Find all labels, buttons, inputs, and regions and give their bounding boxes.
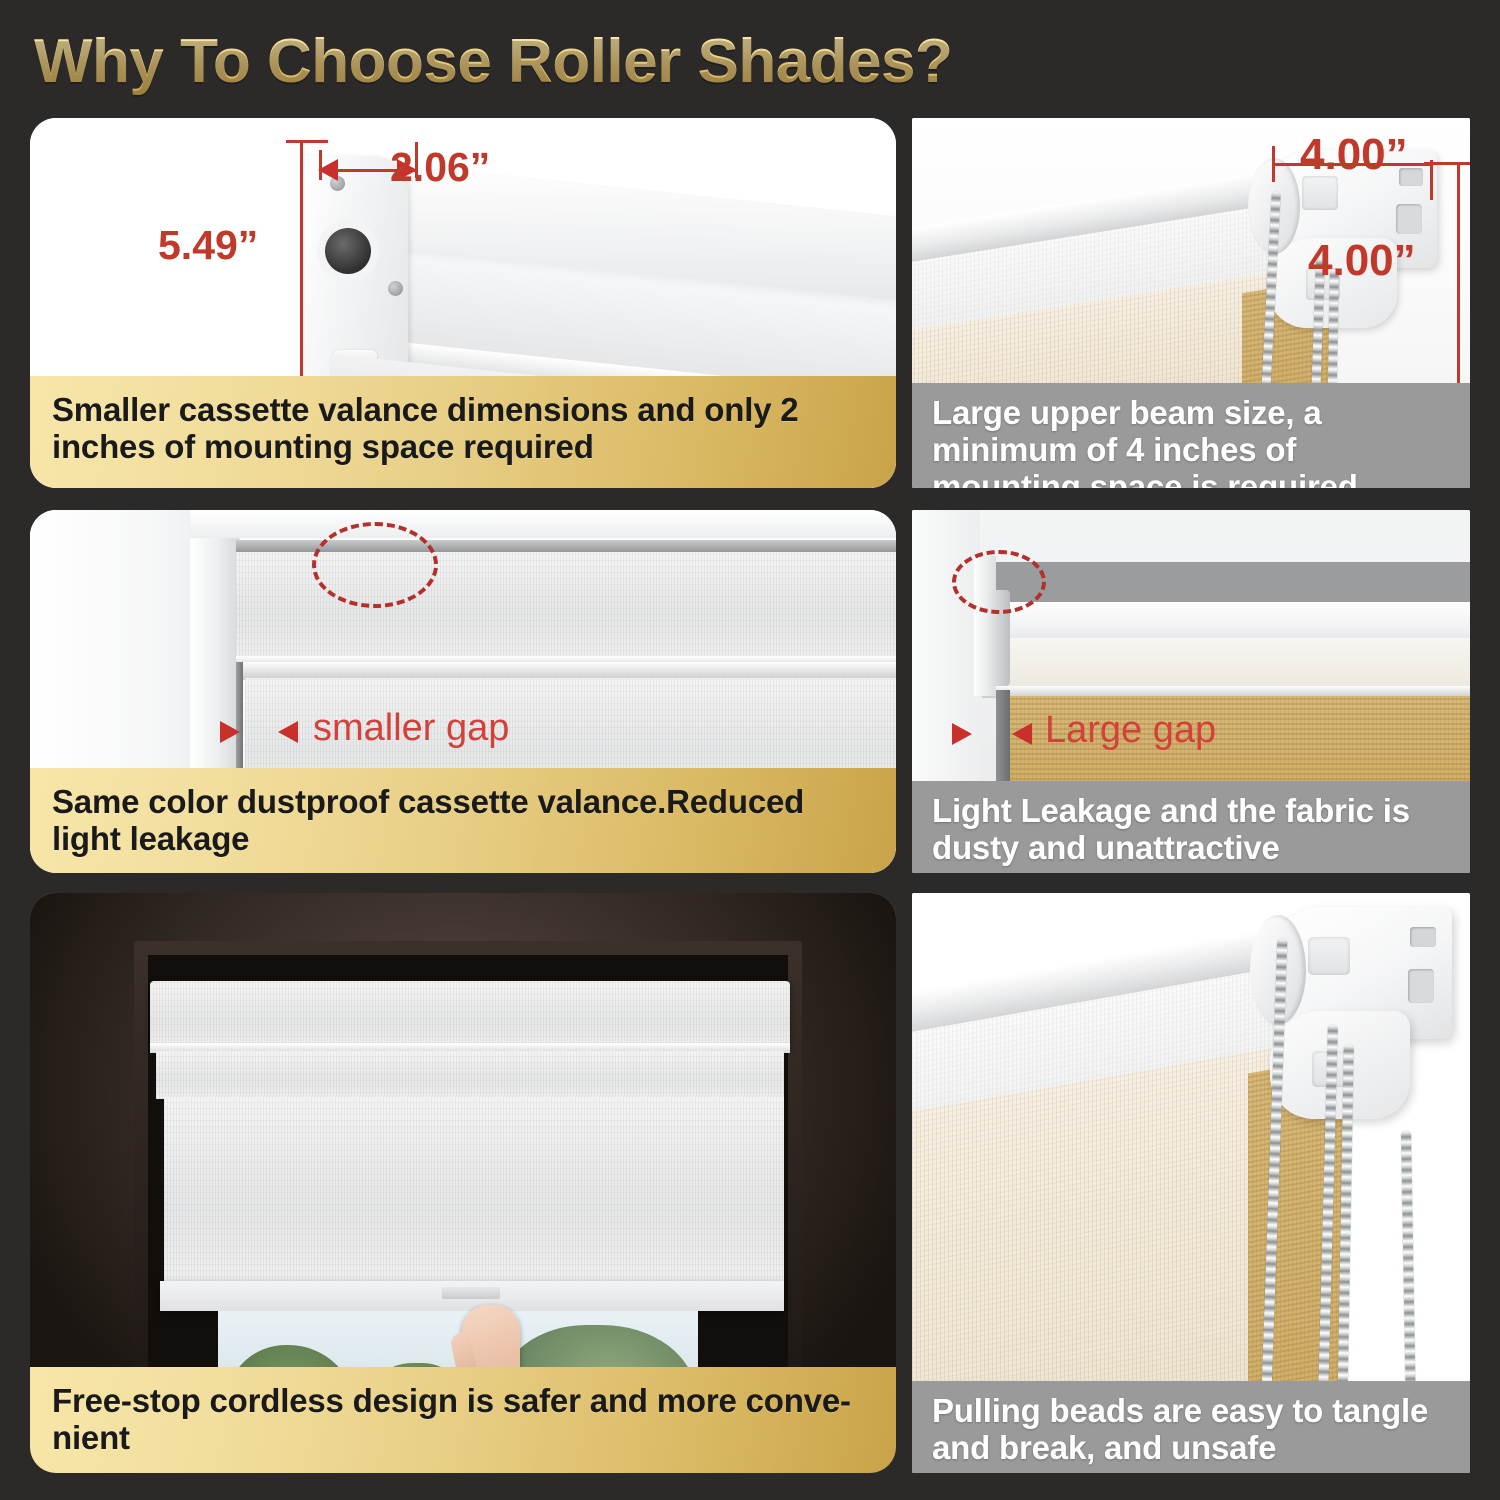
end-cap-roller-slot: [325, 228, 371, 274]
large-gap-label: Large gap: [1045, 709, 1216, 752]
panel-top-right-caption-text: Large upper beam size, a minimum of 4 in…: [932, 395, 1452, 488]
panel-middle-right-caption-text: Light Leakage and the fabric is dusty an…: [932, 793, 1452, 867]
window-frame-top-rail: [190, 510, 896, 538]
panel-bottom-left-caption: Free-stop cordless design is safer and m…: [30, 1367, 896, 1473]
roller-shade-fabric: [164, 1097, 784, 1283]
valance-lower-band: [156, 1051, 784, 1099]
smaller-gap-arrow-right: [278, 721, 298, 743]
panel-bottom-left: Free-stop cordless design is safer and m…: [30, 893, 896, 1473]
end-cap-screw-lower: [388, 281, 403, 296]
panel-top-left: 2.06” 5.49” Smaller cassette valance dim…: [30, 118, 896, 488]
panel-top-left-caption: Smaller cassette valance dimensions and …: [30, 376, 896, 488]
highlight-ellipse: [312, 522, 438, 608]
width-dimension-label: 2.06”: [390, 144, 490, 191]
panel-middle-left-caption-text: Same color dustproof cassette valance.Re…: [52, 784, 874, 858]
height-dimension-label: 5.49”: [158, 222, 258, 269]
large-gap-arrow-left: [952, 723, 972, 745]
beam-height-dimension-label: 4.00”: [1308, 236, 1416, 286]
bracket-emblem-upper: [1302, 176, 1338, 210]
beam-front-plate: [982, 638, 1470, 690]
panel-bottom-right-caption-text: Pulling beads are easy to tangle and bre…: [932, 1393, 1452, 1467]
panel-middle-left: smaller gap Same color dustproof cassett…: [30, 510, 896, 873]
panel-bottom-right: Pulling beads are easy to tangle and bre…: [912, 893, 1470, 1473]
panel-top-right-caption: Large upper beam size, a minimum of 4 in…: [912, 383, 1470, 488]
bracket-slot-upper: [1410, 927, 1436, 947]
cassette-valance: [150, 981, 790, 1049]
beam-width-dimension-label: 4.00”: [1300, 130, 1408, 180]
window-frame-moulding: [190, 510, 236, 800]
beam-width-tick-left: [1272, 146, 1275, 182]
height-dimension-line: [300, 140, 303, 382]
panel-middle-right: Large gap Light Leakage and the fabric i…: [912, 510, 1470, 873]
width-dimension-tick-left: [319, 150, 322, 180]
panel-middle-left-caption: Same color dustproof cassette valance.Re…: [30, 768, 896, 873]
wall-left: [912, 510, 980, 790]
large-gap-arrow-right: [1012, 723, 1032, 745]
smaller-gap-arrow-left: [220, 721, 240, 743]
panel-bottom-left-caption-text: Free-stop cordless design is safer and m…: [52, 1383, 874, 1457]
beam-width-tick-right: [1430, 160, 1433, 200]
panel-middle-right-caption: Light Leakage and the fabric is dusty an…: [912, 781, 1470, 873]
bracket-emblem-upper: [1308, 937, 1350, 975]
infographic-page: Why To Choose Roller Shades? 2.06”: [0, 0, 1500, 1500]
beam-height-tick-top: [1424, 162, 1470, 165]
bracket-slot-middle: [1396, 204, 1422, 234]
panel-top-left-caption-text: Smaller cassette valance dimensions and …: [52, 392, 874, 466]
height-dimension-tick-top: [286, 140, 328, 143]
bottom-rail-pull-tab: [442, 1287, 500, 1299]
bracket-slot-middle: [1408, 969, 1434, 1003]
smaller-gap-label: smaller gap: [313, 707, 509, 750]
panel-bottom-right-caption: Pulling beads are easy to tangle and bre…: [912, 1381, 1470, 1473]
page-title: Why To Choose Roller Shades?: [34, 26, 952, 97]
panel-top-right: 4.00” 4.00” Large upper beam size, a min…: [912, 118, 1470, 488]
highlight-ellipse: [952, 550, 1046, 614]
